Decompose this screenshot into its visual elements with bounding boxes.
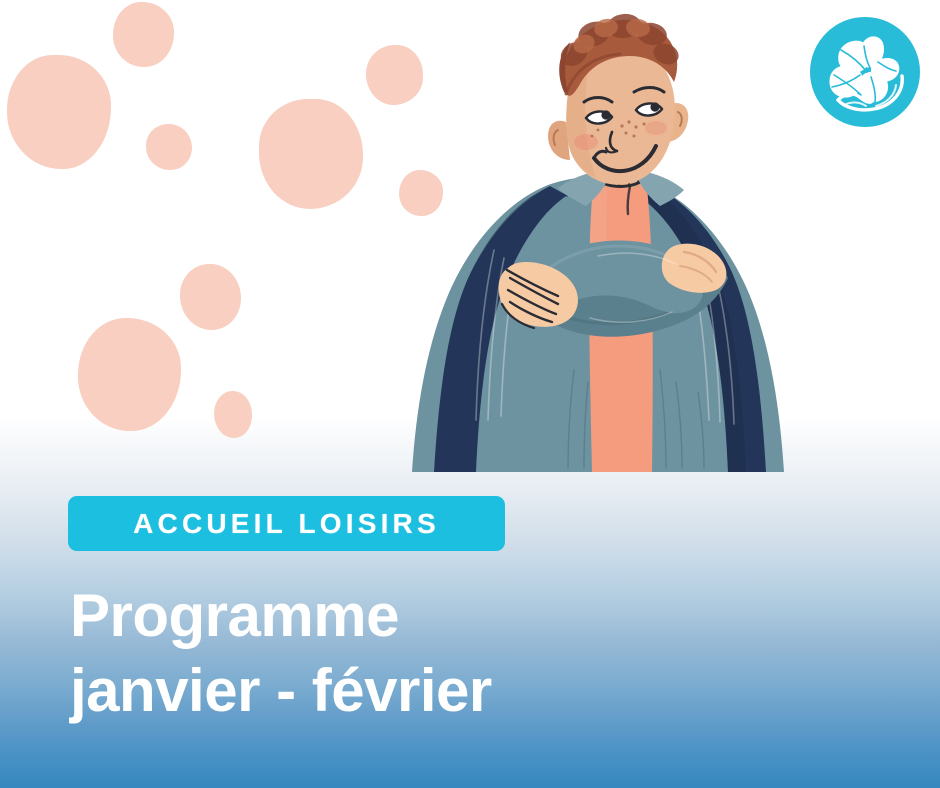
organisation-logo [808,15,922,129]
poster-title-line-2: janvier - février [70,653,830,728]
pink-blob [180,264,241,330]
category-badge-label: ACCUEIL LOISIRS [133,510,440,538]
pink-blob [7,55,111,169]
poster: ACCUEIL LOISIRS Programme janvier - févr… [0,0,940,788]
pink-blob [78,318,181,431]
category-badge[interactable]: ACCUEIL LOISIRS [68,496,505,551]
pink-blob [259,99,363,209]
poster-title-line-1: Programme [70,578,830,653]
pink-blob [113,2,174,67]
poster-title: Programme janvier - février [70,578,830,728]
pink-blob [146,124,192,170]
character-illustration [398,0,798,472]
pink-blob [214,391,252,438]
